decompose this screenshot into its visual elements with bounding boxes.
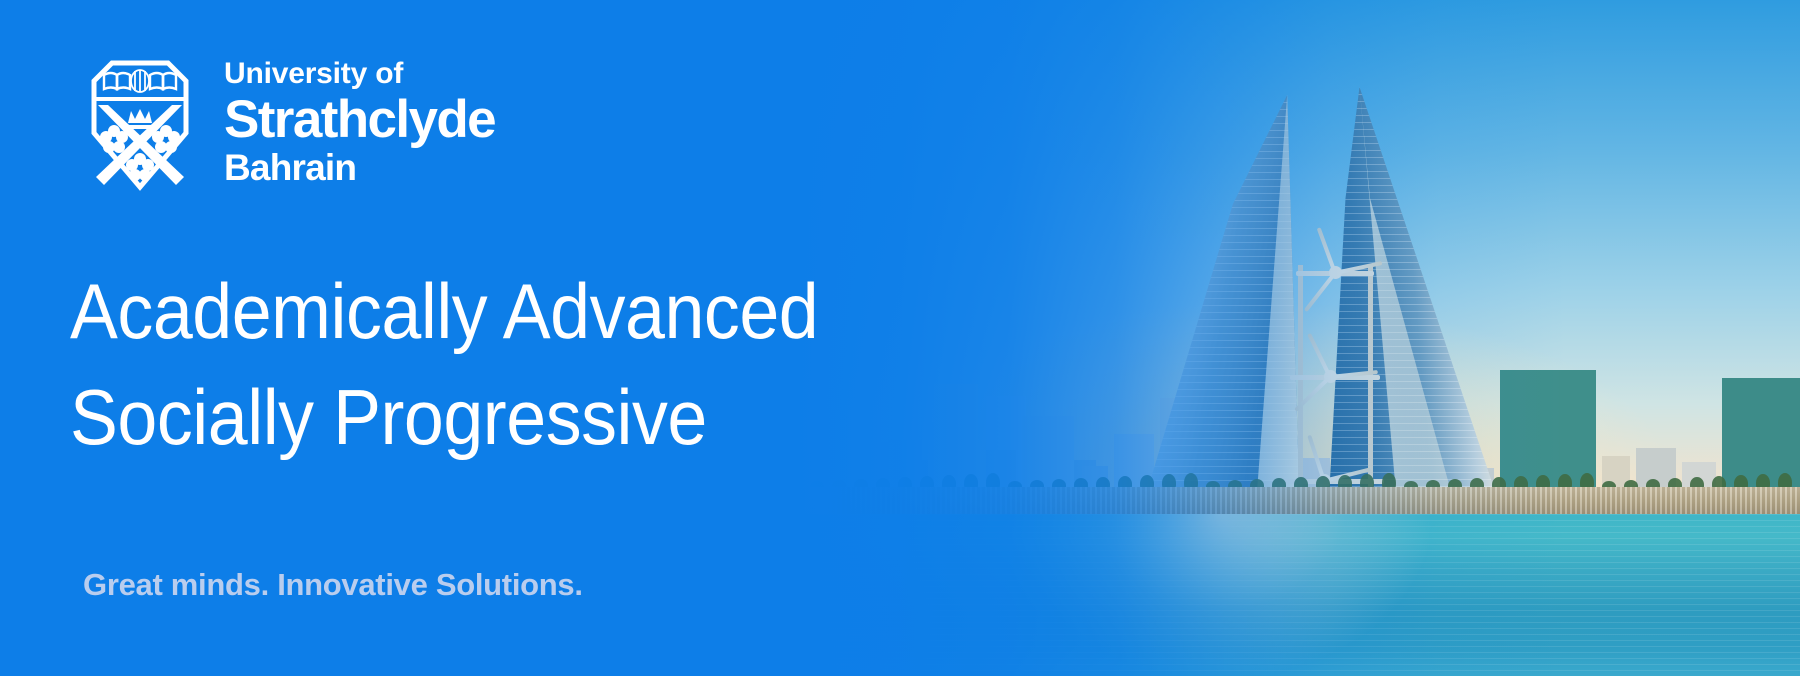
logo-line-strathclyde: Strathclyde	[224, 93, 495, 147]
tagline: Great minds. Innovative Solutions.	[83, 567, 583, 603]
logo-line-bahrain: Bahrain	[224, 149, 495, 188]
university-banner: University of Strathclyde Bahrain Academ…	[0, 0, 1800, 676]
university-logo[interactable]: University of Strathclyde Bahrain	[82, 55, 495, 195]
logo-wordmark: University of Strathclyde Bahrain	[224, 55, 495, 188]
strathclyde-crest-icon	[82, 55, 198, 195]
logo-line-university: University of	[224, 59, 495, 89]
headline: Academically Advanced Socially Progressi…	[70, 258, 883, 470]
headline-line-1: Academically Advanced	[70, 258, 818, 364]
headline-line-2: Socially Progressive	[70, 364, 818, 470]
banner-content: University of Strathclyde Bahrain Academ…	[0, 0, 1800, 676]
